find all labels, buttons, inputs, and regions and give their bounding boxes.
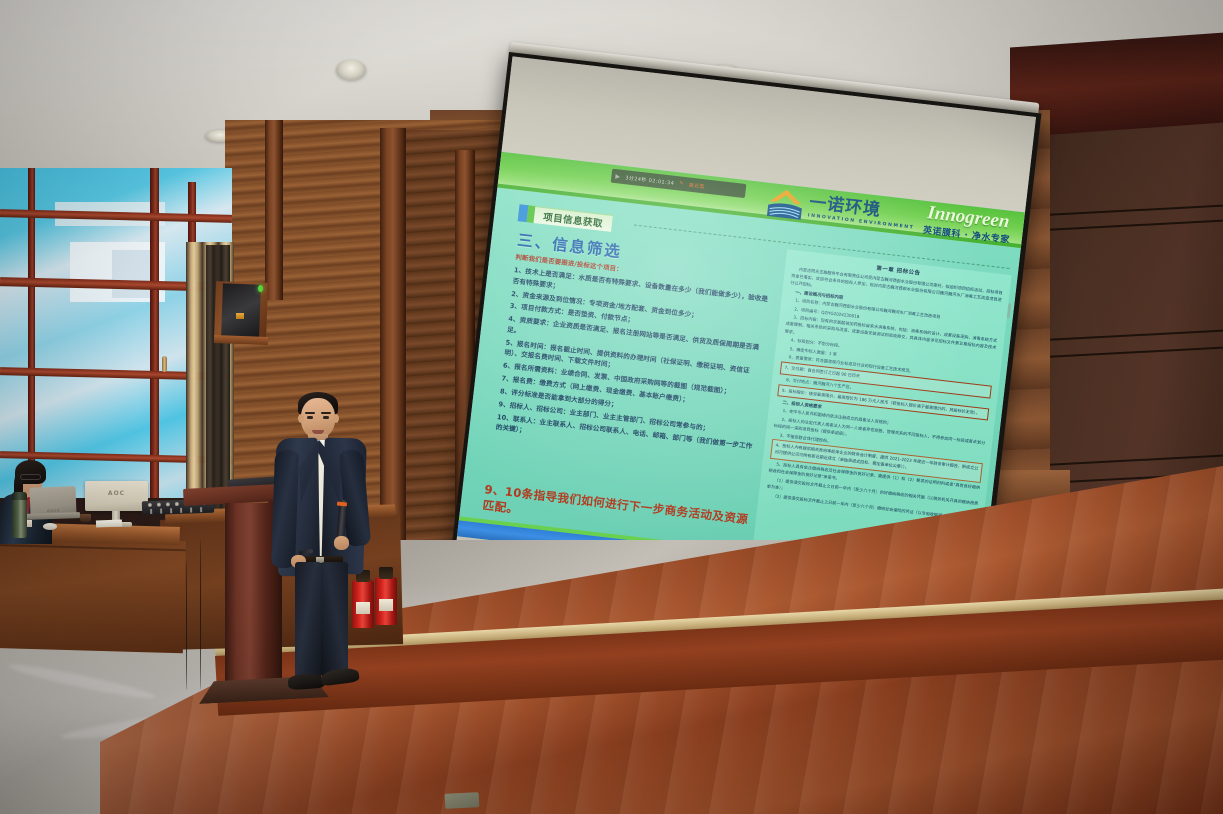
laptop-screen[interactable]: ASUS bbox=[30, 486, 77, 516]
thermos-cap bbox=[12, 492, 27, 500]
thermos-bottle bbox=[12, 498, 27, 538]
laser-pointer-label[interactable]: 激光笔 bbox=[688, 181, 705, 190]
operator-desk-front bbox=[0, 536, 186, 653]
presenter-eye bbox=[307, 416, 313, 419]
wall-speaker-icon bbox=[221, 283, 261, 337]
laptop-keyboard[interactable] bbox=[26, 512, 80, 520]
presenter-hand-right bbox=[334, 536, 349, 550]
presenter-ear bbox=[333, 414, 339, 423]
presenter-eye bbox=[323, 416, 329, 419]
speaker-badge bbox=[236, 313, 244, 319]
cable bbox=[200, 540, 201, 690]
computer-mouse[interactable] bbox=[43, 523, 57, 530]
slide-timer: 3分24秒 02:01:34 bbox=[625, 174, 675, 187]
cable bbox=[186, 560, 187, 690]
slide-section-tag: 项目信息获取 bbox=[518, 204, 613, 232]
window-handle[interactable] bbox=[162, 356, 167, 372]
presenter-eyebrow bbox=[305, 412, 315, 414]
presenter-arm-left bbox=[271, 450, 299, 569]
conference-room-photo: 一诺环境 INNOVATION ENVIRONMENT Innogreen 英诺… bbox=[0, 0, 1223, 814]
glasses-icon bbox=[20, 474, 41, 480]
slide-body-left: 判断我们是否要跟进/投标这个项目： 1、技术上是否满足：水质是否有特殊要求、设备… bbox=[495, 252, 776, 465]
play-icon[interactable]: ▶ bbox=[615, 173, 621, 181]
presenter-leg-right bbox=[321, 562, 348, 676]
presenter-eyebrow bbox=[321, 412, 331, 414]
pen-icon[interactable]: ✎ bbox=[679, 180, 684, 186]
presenter-leg-left bbox=[295, 562, 321, 678]
presenter-shoe-left bbox=[288, 673, 325, 690]
microphone-band-icon bbox=[337, 502, 347, 507]
monitor-brand-label: AOC bbox=[108, 490, 125, 497]
presenter-person bbox=[255, 388, 385, 708]
floor-access-plate bbox=[445, 792, 480, 809]
cup bbox=[80, 514, 91, 522]
paper-stack bbox=[96, 520, 122, 528]
desktop-monitor: AOC bbox=[85, 481, 148, 511]
mountain-water-logo-icon bbox=[764, 185, 805, 221]
speaker-power-led-icon bbox=[258, 285, 263, 292]
presenter-ear bbox=[298, 414, 304, 423]
wood-pillar bbox=[265, 120, 283, 300]
section-tag-label: 项目信息获取 bbox=[534, 206, 613, 232]
ceiling-downlight bbox=[336, 60, 366, 80]
